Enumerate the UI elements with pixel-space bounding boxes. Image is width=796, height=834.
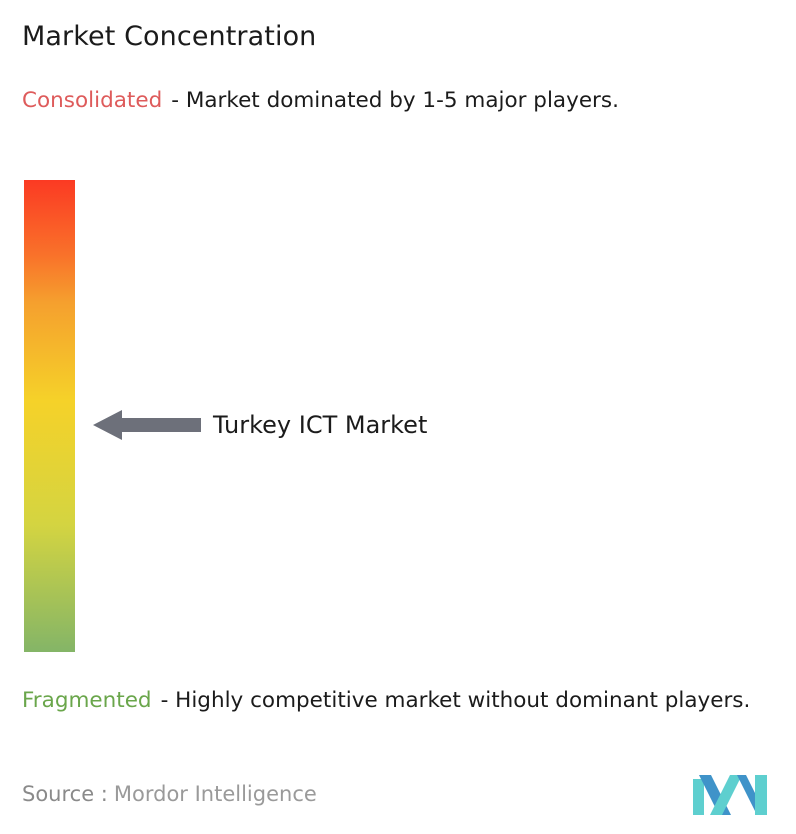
chart-canvas: Market Concentration Consolidated- Marke… (0, 0, 796, 834)
source-value: Mordor Intelligence (114, 782, 317, 806)
market-position-label: Turkey ICT Market (213, 410, 427, 440)
mordor-intelligence-logo (693, 769, 767, 817)
left-arrow-icon (93, 408, 201, 442)
legend-tag-fragmented: Fragmented (22, 688, 152, 713)
legend-text-fragmented: - Highly competitive market without domi… (161, 688, 751, 713)
legend-text-consolidated: - Market dominated by 1-5 major players. (171, 88, 619, 113)
bottom-legend-description: Fragmented- Highly competitive market wi… (22, 685, 788, 716)
page-title: Market Concentration (22, 20, 316, 54)
market-concentration-gradient-bar (24, 180, 75, 652)
source-attribution: Source :Mordor Intelligence (22, 780, 317, 808)
market-position-marker: Turkey ICT Market (93, 404, 427, 446)
top-legend-description: Consolidated- Market dominated by 1-5 ma… (22, 85, 778, 116)
source-label: Source : (22, 782, 108, 806)
legend-tag-consolidated: Consolidated (22, 88, 162, 113)
